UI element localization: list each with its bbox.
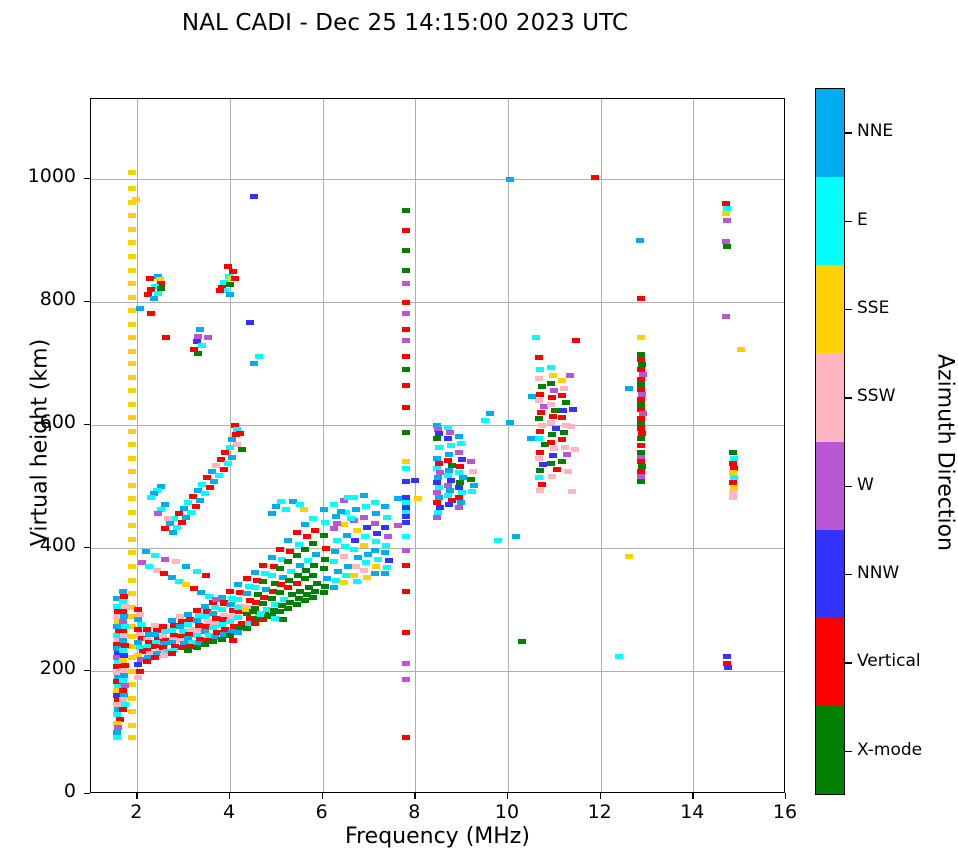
x-tick-label: 16 bbox=[755, 801, 815, 823]
scatter-point bbox=[637, 443, 645, 448]
scatter-point bbox=[128, 510, 136, 515]
scatter-point bbox=[220, 467, 228, 472]
scatter-point bbox=[535, 355, 543, 360]
scatter-point bbox=[402, 630, 410, 635]
scatter-point bbox=[402, 268, 410, 273]
scatter-point bbox=[558, 378, 566, 383]
scatter-point bbox=[128, 281, 136, 286]
scatter-point bbox=[279, 617, 287, 622]
scatter-point bbox=[293, 553, 301, 558]
scatter-point bbox=[128, 537, 136, 542]
scatter-point bbox=[559, 408, 567, 413]
scatter-point bbox=[198, 343, 206, 348]
colorbar-segment-nne[interactable] bbox=[816, 89, 844, 177]
scatter-point bbox=[383, 515, 391, 520]
scatter-point bbox=[194, 351, 202, 356]
scatter-point bbox=[272, 504, 280, 509]
scatter-point bbox=[226, 589, 234, 594]
scatter-point bbox=[341, 544, 349, 549]
scatter-point bbox=[371, 521, 379, 526]
gridline-vertical bbox=[137, 99, 138, 792]
y-tick bbox=[84, 424, 90, 425]
scatter-point bbox=[527, 436, 535, 441]
scatter-point bbox=[361, 534, 369, 539]
scatter-point bbox=[134, 675, 142, 680]
scatter-point bbox=[320, 590, 328, 595]
scatter-point bbox=[402, 354, 410, 359]
scatter-point bbox=[548, 395, 556, 400]
x-tick bbox=[136, 793, 137, 799]
scatter-point bbox=[373, 531, 381, 536]
scatter-point bbox=[251, 585, 259, 590]
scatter-point bbox=[128, 735, 136, 740]
scatter-point bbox=[168, 651, 176, 656]
scatter-point bbox=[344, 495, 352, 500]
scatter-point bbox=[226, 292, 234, 297]
scatter-point bbox=[402, 383, 410, 388]
scatter-point bbox=[567, 424, 575, 429]
scatter-point bbox=[381, 550, 389, 555]
scatter-point bbox=[547, 420, 555, 425]
scatter-point bbox=[445, 502, 453, 507]
gridline-vertical bbox=[323, 99, 324, 792]
scatter-point bbox=[737, 347, 745, 352]
x-tick bbox=[229, 793, 230, 799]
x-tick bbox=[600, 793, 601, 799]
scatter-point bbox=[161, 557, 169, 562]
scatter-point bbox=[486, 411, 494, 416]
scatter-point bbox=[282, 507, 290, 512]
scatter-point bbox=[136, 306, 144, 311]
scatter-point bbox=[218, 607, 226, 612]
scatter-point bbox=[276, 566, 284, 571]
scatter-point bbox=[402, 735, 410, 740]
scatter-point bbox=[402, 534, 410, 539]
scatter-point bbox=[169, 530, 177, 535]
scatter-point bbox=[352, 564, 360, 569]
scatter-point bbox=[128, 564, 136, 569]
x-tick-label: 6 bbox=[292, 801, 352, 823]
scatter-point bbox=[284, 538, 292, 543]
colorbar-tick bbox=[845, 574, 852, 575]
gridline-vertical bbox=[508, 99, 509, 792]
scatter-point bbox=[571, 447, 579, 452]
scatter-point bbox=[330, 559, 338, 564]
scatter-point bbox=[547, 381, 555, 386]
scatter-point bbox=[146, 276, 154, 281]
colorbar-segment-w[interactable] bbox=[816, 442, 844, 530]
scatter-point bbox=[301, 522, 309, 527]
y-tick-label: 1000 bbox=[0, 165, 76, 187]
scatter-point bbox=[506, 420, 514, 425]
scatter-point bbox=[636, 238, 644, 243]
scatter-point bbox=[330, 526, 338, 531]
scatter-point bbox=[456, 464, 464, 469]
scatter-point bbox=[301, 576, 309, 581]
scatter-point bbox=[309, 595, 317, 600]
x-tick bbox=[322, 793, 323, 799]
scatter-point bbox=[154, 511, 162, 516]
y-tick bbox=[84, 793, 90, 794]
scatter-point bbox=[236, 431, 244, 436]
colorbar-label-nne: NNE bbox=[857, 121, 893, 141]
scatter-point bbox=[512, 534, 520, 539]
scatter-point bbox=[637, 335, 645, 340]
scatter-point bbox=[284, 606, 292, 611]
scatter-point bbox=[196, 498, 204, 503]
scatter-point bbox=[535, 376, 543, 381]
scatter-point bbox=[549, 373, 557, 378]
scatter-point bbox=[250, 361, 258, 366]
scatter-point bbox=[553, 467, 561, 472]
y-tick bbox=[84, 670, 90, 671]
y-tick bbox=[84, 301, 90, 302]
scatter-point bbox=[193, 645, 201, 650]
scatter-point bbox=[251, 621, 259, 626]
y-tick-label: 0 bbox=[0, 780, 76, 802]
scatter-point bbox=[547, 402, 555, 407]
colorbar-segment-ssw[interactable] bbox=[816, 353, 844, 441]
scatter-point bbox=[568, 489, 576, 494]
scatter-point bbox=[447, 443, 455, 448]
scatter-point bbox=[457, 441, 465, 446]
colorbar-tick bbox=[845, 662, 852, 663]
colorbar-tick bbox=[845, 486, 852, 487]
colorbar-tick bbox=[845, 221, 852, 222]
scatter-point bbox=[128, 308, 136, 313]
scatter-point bbox=[309, 541, 317, 546]
scatter-point bbox=[625, 386, 633, 391]
scatter-point bbox=[572, 338, 580, 343]
scatter-point bbox=[128, 696, 136, 701]
colorbar-segment-e[interactable] bbox=[816, 177, 844, 265]
x-tick bbox=[414, 793, 415, 799]
scatter-point bbox=[402, 281, 410, 286]
scatter-point bbox=[259, 579, 267, 584]
scatter-point bbox=[331, 549, 339, 554]
x-tick-label: 8 bbox=[384, 801, 444, 823]
scatter-point bbox=[147, 495, 155, 500]
scatter-point bbox=[566, 373, 574, 378]
scatter-point bbox=[433, 436, 441, 441]
scatter-point bbox=[549, 453, 557, 458]
scatter-point bbox=[151, 655, 159, 660]
scatter-point bbox=[323, 576, 331, 581]
scatter-point bbox=[268, 555, 276, 560]
scatter-point bbox=[234, 630, 242, 635]
x-tick-label: 4 bbox=[199, 801, 259, 823]
scatter-point bbox=[394, 523, 402, 528]
scatter-point bbox=[337, 509, 345, 514]
scatter-point bbox=[538, 482, 546, 487]
scatter-point bbox=[321, 557, 329, 562]
scatter-point bbox=[564, 469, 572, 474]
colorbar[interactable] bbox=[815, 88, 845, 795]
scatter-point bbox=[538, 384, 546, 389]
scatter-point bbox=[276, 609, 284, 614]
scatter-point bbox=[637, 296, 645, 301]
scatter-point bbox=[340, 522, 348, 527]
scatter-point bbox=[343, 533, 351, 538]
scatter-point bbox=[402, 589, 410, 594]
scatter-point bbox=[414, 496, 422, 501]
scatter-point bbox=[535, 416, 543, 421]
scatter-point bbox=[276, 590, 284, 595]
y-tick-label: 200 bbox=[0, 657, 76, 679]
scatter-point bbox=[128, 578, 136, 583]
scatter-point bbox=[330, 502, 338, 507]
scatter-point bbox=[132, 197, 140, 202]
gridline-horizontal bbox=[91, 302, 784, 303]
scatter-point bbox=[402, 514, 410, 519]
scatter-point bbox=[128, 709, 136, 714]
scatter-point bbox=[729, 495, 737, 500]
scatter-point bbox=[320, 566, 328, 571]
scatter-point bbox=[250, 194, 258, 199]
scatter-point bbox=[243, 576, 251, 581]
scatter-point bbox=[402, 466, 410, 471]
scatter-point bbox=[362, 504, 370, 509]
scatter-point bbox=[312, 552, 320, 557]
scatter-point bbox=[201, 642, 209, 647]
scatter-point bbox=[729, 450, 737, 455]
scatter-point bbox=[351, 538, 359, 543]
scatter-point bbox=[445, 452, 453, 457]
scatter-point bbox=[518, 639, 526, 644]
x-tick bbox=[507, 793, 508, 799]
colorbar-segment-nnw[interactable] bbox=[816, 530, 844, 618]
scatter-point bbox=[310, 563, 318, 568]
scatter-point bbox=[402, 228, 410, 233]
scatter-point bbox=[224, 461, 232, 466]
scatter-point bbox=[374, 557, 382, 562]
colorbar-label-nnw: NNW bbox=[857, 563, 899, 583]
scatter-point bbox=[470, 483, 478, 488]
scatter-point bbox=[229, 638, 237, 643]
scatter-point bbox=[558, 415, 566, 420]
plot-area bbox=[90, 98, 785, 793]
scatter-point bbox=[182, 564, 190, 569]
scatter-point bbox=[311, 528, 319, 533]
scatter-point bbox=[360, 543, 368, 548]
scatter-point bbox=[334, 569, 342, 574]
scatter-point bbox=[382, 543, 390, 548]
scatter-point bbox=[455, 505, 463, 510]
scatter-point bbox=[143, 659, 151, 664]
scatter-point bbox=[402, 563, 410, 568]
scatter-point bbox=[362, 560, 370, 565]
scatter-point bbox=[293, 530, 301, 535]
scatter-point bbox=[468, 489, 476, 494]
scatter-point bbox=[238, 447, 246, 452]
scatter-point bbox=[381, 504, 389, 509]
scatter-point bbox=[309, 516, 317, 521]
scatter-point bbox=[536, 450, 544, 455]
scatter-point bbox=[352, 507, 360, 512]
scatter-point bbox=[218, 637, 226, 642]
scatter-point bbox=[216, 288, 224, 293]
scatter-point bbox=[309, 573, 317, 578]
scatter-point bbox=[385, 558, 393, 563]
scatter-point bbox=[201, 604, 209, 609]
scatter-point bbox=[532, 335, 540, 340]
scatter-point bbox=[184, 648, 192, 653]
scatter-point bbox=[313, 581, 321, 586]
scatter-point bbox=[128, 335, 136, 340]
scatter-point bbox=[637, 436, 645, 441]
scatter-point bbox=[128, 349, 136, 354]
scatter-point bbox=[494, 538, 502, 543]
scatter-point bbox=[251, 570, 259, 575]
scatter-point bbox=[300, 507, 308, 512]
scatter-point bbox=[402, 208, 410, 213]
scatter-point bbox=[591, 175, 599, 180]
scatter-point bbox=[353, 528, 361, 533]
scatter-point bbox=[246, 320, 254, 325]
scatter-point bbox=[402, 548, 410, 553]
scatter-point bbox=[128, 213, 136, 218]
scatter-point bbox=[435, 445, 443, 450]
scatter-point bbox=[723, 654, 731, 659]
scatter-point bbox=[481, 418, 489, 423]
scatter-point bbox=[113, 735, 121, 740]
scatter-point bbox=[535, 456, 543, 461]
scatter-point bbox=[134, 662, 142, 667]
scatter-point bbox=[372, 564, 380, 569]
scatter-point bbox=[536, 429, 544, 434]
scatter-point bbox=[722, 211, 730, 216]
scatter-point bbox=[402, 311, 410, 316]
scatter-point bbox=[402, 327, 410, 332]
scatter-point bbox=[322, 546, 330, 551]
colorbar-segment-vertical[interactable] bbox=[816, 618, 844, 706]
scatter-point bbox=[204, 335, 212, 340]
scatter-point bbox=[371, 548, 379, 553]
colorbar-segment-sse[interactable] bbox=[816, 265, 844, 353]
scatter-point bbox=[467, 459, 475, 464]
scatter-point bbox=[119, 707, 127, 712]
scatter-point bbox=[722, 314, 730, 319]
scatter-point bbox=[320, 507, 328, 512]
scatter-point bbox=[637, 479, 645, 484]
gridline-horizontal bbox=[91, 671, 784, 672]
scatter-point bbox=[455, 450, 463, 455]
ionogram-plot-page: NAL CADI - Dec 25 14:15:00 2023 UTC 2468… bbox=[0, 0, 958, 857]
scatter-canvas bbox=[91, 99, 784, 792]
scatter-point bbox=[293, 602, 301, 607]
scatter-point bbox=[128, 170, 136, 175]
scatter-point bbox=[548, 432, 556, 437]
scatter-point bbox=[558, 459, 566, 464]
scatter-point bbox=[467, 477, 475, 482]
scatter-point bbox=[234, 597, 242, 602]
scatter-point bbox=[128, 375, 136, 380]
scatter-point bbox=[563, 452, 571, 457]
scatter-point bbox=[350, 547, 358, 552]
scatter-point bbox=[723, 244, 731, 249]
scatter-point bbox=[402, 248, 410, 253]
scatter-point bbox=[371, 571, 379, 576]
scatter-point bbox=[320, 533, 328, 538]
scatter-point bbox=[128, 415, 136, 420]
scatter-point bbox=[360, 515, 368, 520]
scatter-point bbox=[128, 227, 136, 232]
scatter-point bbox=[333, 521, 341, 526]
scatter-point bbox=[384, 534, 392, 539]
scatter-point bbox=[243, 591, 251, 596]
scatter-point bbox=[538, 423, 546, 428]
scatter-point bbox=[402, 520, 410, 525]
scatter-point bbox=[402, 367, 410, 372]
scatter-point bbox=[128, 254, 136, 259]
scatter-point bbox=[353, 579, 361, 584]
scatter-point bbox=[231, 276, 239, 281]
scatter-point bbox=[455, 434, 463, 439]
scatter-point bbox=[293, 581, 301, 586]
scatter-point bbox=[259, 601, 267, 606]
scatter-point bbox=[128, 591, 136, 596]
scatter-point bbox=[381, 571, 389, 576]
scatter-point bbox=[147, 311, 155, 316]
gridline-vertical bbox=[415, 99, 416, 792]
scatter-point bbox=[234, 615, 242, 620]
scatter-point bbox=[402, 338, 410, 343]
scatter-point bbox=[192, 504, 200, 509]
scatter-point bbox=[196, 327, 204, 332]
scatter-point bbox=[469, 469, 477, 474]
colorbar-label-vertical: Vertical bbox=[857, 651, 921, 671]
scatter-point bbox=[342, 573, 350, 578]
scatter-point bbox=[276, 547, 284, 552]
scatter-point bbox=[142, 549, 150, 554]
x-tick-label: 12 bbox=[570, 801, 630, 823]
scatter-point bbox=[333, 538, 341, 543]
scatter-point bbox=[548, 474, 556, 479]
colorbar-tick bbox=[845, 132, 852, 133]
colorbar-segment-x-mode[interactable] bbox=[816, 706, 844, 794]
scatter-point bbox=[268, 596, 276, 601]
scatter-point bbox=[128, 723, 136, 728]
scatter-point bbox=[128, 469, 136, 474]
gridline-vertical bbox=[693, 99, 694, 792]
scatter-point bbox=[301, 547, 309, 552]
scatter-point bbox=[402, 430, 410, 435]
scatter-point bbox=[528, 394, 536, 399]
scatter-point bbox=[360, 493, 368, 498]
scatter-point bbox=[446, 430, 454, 435]
scatter-point bbox=[136, 669, 144, 674]
scatter-point bbox=[547, 461, 555, 466]
scatter-point bbox=[558, 393, 566, 398]
scatter-point bbox=[549, 414, 557, 419]
scatter-point bbox=[128, 186, 136, 191]
scatter-point bbox=[321, 584, 329, 589]
scatter-point bbox=[458, 457, 466, 462]
scatter-point bbox=[209, 639, 217, 644]
scatter-point bbox=[201, 491, 209, 496]
scatter-point bbox=[535, 436, 543, 441]
scatter-point bbox=[128, 456, 136, 461]
scatter-point bbox=[569, 407, 577, 412]
scatter-point bbox=[371, 500, 379, 505]
scatter-point bbox=[536, 488, 544, 493]
scatter-point bbox=[128, 268, 136, 273]
scatter-point bbox=[151, 553, 159, 558]
scatter-point bbox=[506, 177, 514, 182]
scatter-point bbox=[547, 440, 555, 445]
scatter-point bbox=[120, 594, 128, 599]
scatter-point bbox=[128, 442, 136, 447]
